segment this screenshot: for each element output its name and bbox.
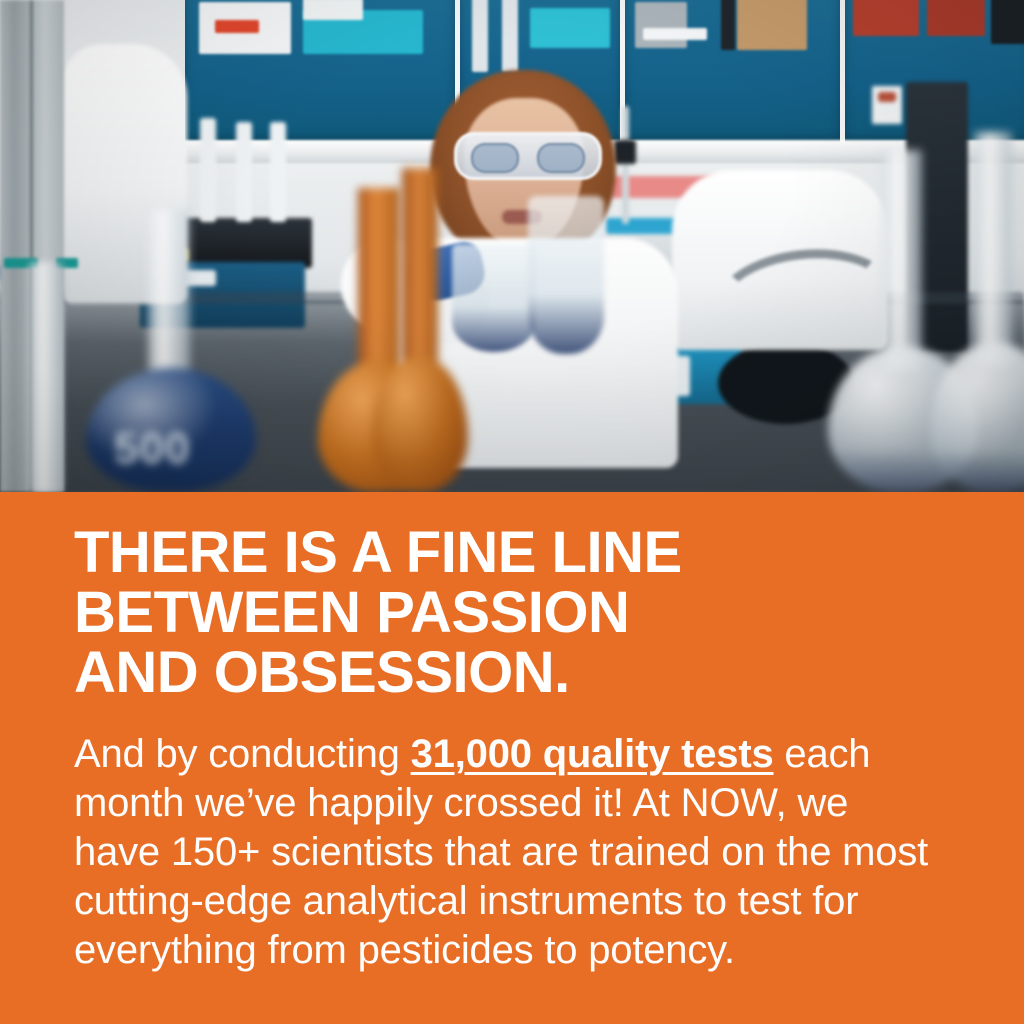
erlenmeyer-flask-center: [528, 196, 604, 354]
left-glass-cylinder: [28, 262, 64, 492]
headline: THERE IS A FINE LINE BETWEEN PASSION AND…: [74, 523, 954, 703]
flask-bulb: [930, 342, 1024, 492]
clear-flask-2: [930, 132, 1024, 492]
sample-tube-3: [236, 122, 252, 222]
cabinet-content-grey-bottle: [635, 2, 687, 48]
cabinet-content-tubes: [472, 0, 488, 72]
flask-neck: [402, 168, 438, 380]
flask-bulb: [372, 356, 468, 492]
quality-tests-emphasis: 31,000 quality tests: [411, 732, 774, 776]
orange-text-panel: THERE IS A FINE LINE BETWEEN PASSION AND…: [0, 492, 1024, 1024]
outlet-dots: [878, 92, 896, 102]
goggle-lens-right: [537, 143, 585, 173]
body-copy: And by conducting 31,000 quality tests e…: [74, 730, 940, 975]
flask-neck: [148, 210, 190, 392]
cabinet-content-red-label: [215, 20, 259, 33]
amber-flask-2: [372, 168, 468, 492]
cabinet-content-cyan-tray-2: [530, 8, 610, 48]
volumetric-flask-500: 500: [86, 210, 256, 492]
flask-neck: [882, 150, 922, 370]
safety-goggles-icon: [454, 132, 602, 180]
cabinet-content-tubes-2: [502, 0, 518, 72]
body-lead: And by conducting: [74, 732, 411, 776]
cabinet-content-white-box-2: [303, 0, 363, 20]
flask-neck: [974, 132, 1012, 366]
goggle-lens-left: [471, 143, 519, 173]
cabinet-content-dark-slot: [991, 0, 1024, 44]
lab-photo: 500: [0, 0, 1024, 492]
promo-canvas: 500 THERE IS A FINE LINE BETWEEN PASSION…: [0, 0, 1024, 1024]
sample-tube-2: [200, 118, 216, 222]
cabinet-content-red-boxes-2: [927, 0, 985, 36]
flask-volume-label: 500: [114, 424, 190, 474]
sample-tube-4: [270, 122, 286, 222]
